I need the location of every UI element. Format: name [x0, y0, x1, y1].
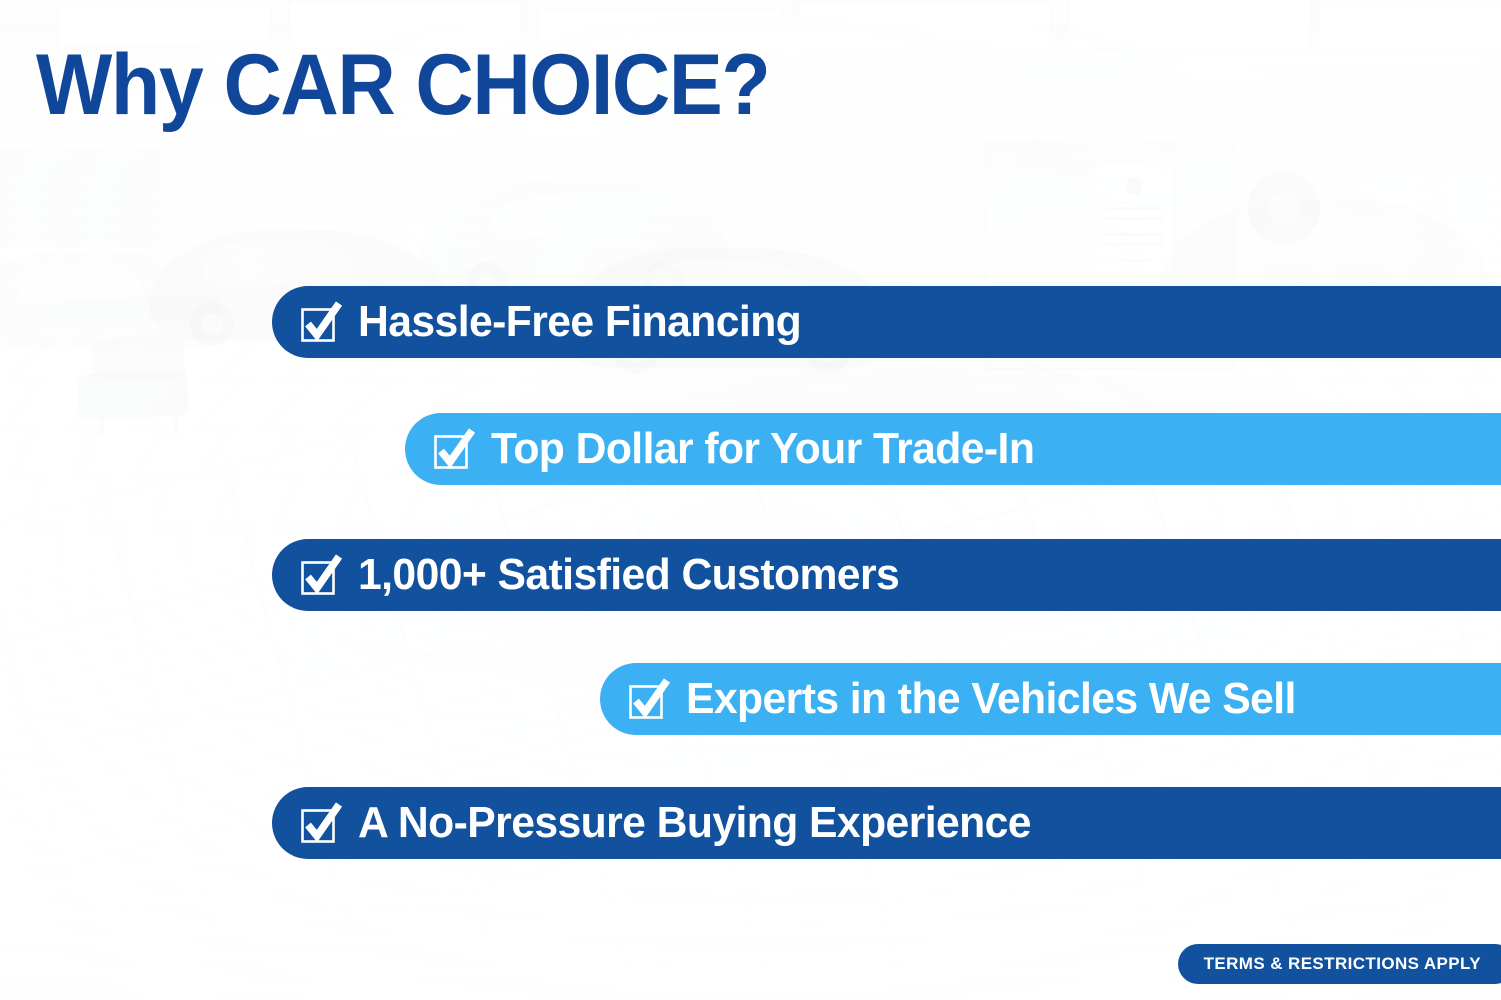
checkbox-checked-icon [300, 555, 340, 595]
benefit-pill-2[interactable]: Top Dollar for Your Trade-In [405, 413, 1501, 485]
benefit-label: Top Dollar for Your Trade-In [491, 424, 1034, 474]
benefit-pill-4[interactable]: Experts in the Vehicles We Sell [600, 663, 1501, 735]
benefit-label: Experts in the Vehicles We Sell [686, 674, 1296, 724]
benefit-pill-3[interactable]: 1,000+ Satisfied Customers [272, 539, 1501, 611]
promo-graphic: Why CAR CHOICE? Hassle-Free Financing To… [0, 0, 1501, 1000]
benefit-pill-5[interactable]: A No-Pressure Buying Experience [272, 787, 1501, 859]
benefit-pill-1[interactable]: Hassle-Free Financing [272, 286, 1501, 358]
checkbox-checked-icon [300, 302, 340, 342]
page-title: Why CAR CHOICE? [36, 42, 769, 128]
checkbox-checked-icon [300, 803, 340, 843]
benefit-label: 1,000+ Satisfied Customers [358, 550, 899, 600]
checkbox-checked-icon [628, 679, 668, 719]
checkbox-checked-icon [433, 429, 473, 469]
benefit-label: A No-Pressure Buying Experience [358, 798, 1031, 848]
terms-label: TERMS & RESTRICTIONS APPLY [1204, 954, 1481, 974]
terms-badge[interactable]: TERMS & RESTRICTIONS APPLY [1178, 944, 1501, 984]
benefit-label: Hassle-Free Financing [358, 297, 801, 347]
